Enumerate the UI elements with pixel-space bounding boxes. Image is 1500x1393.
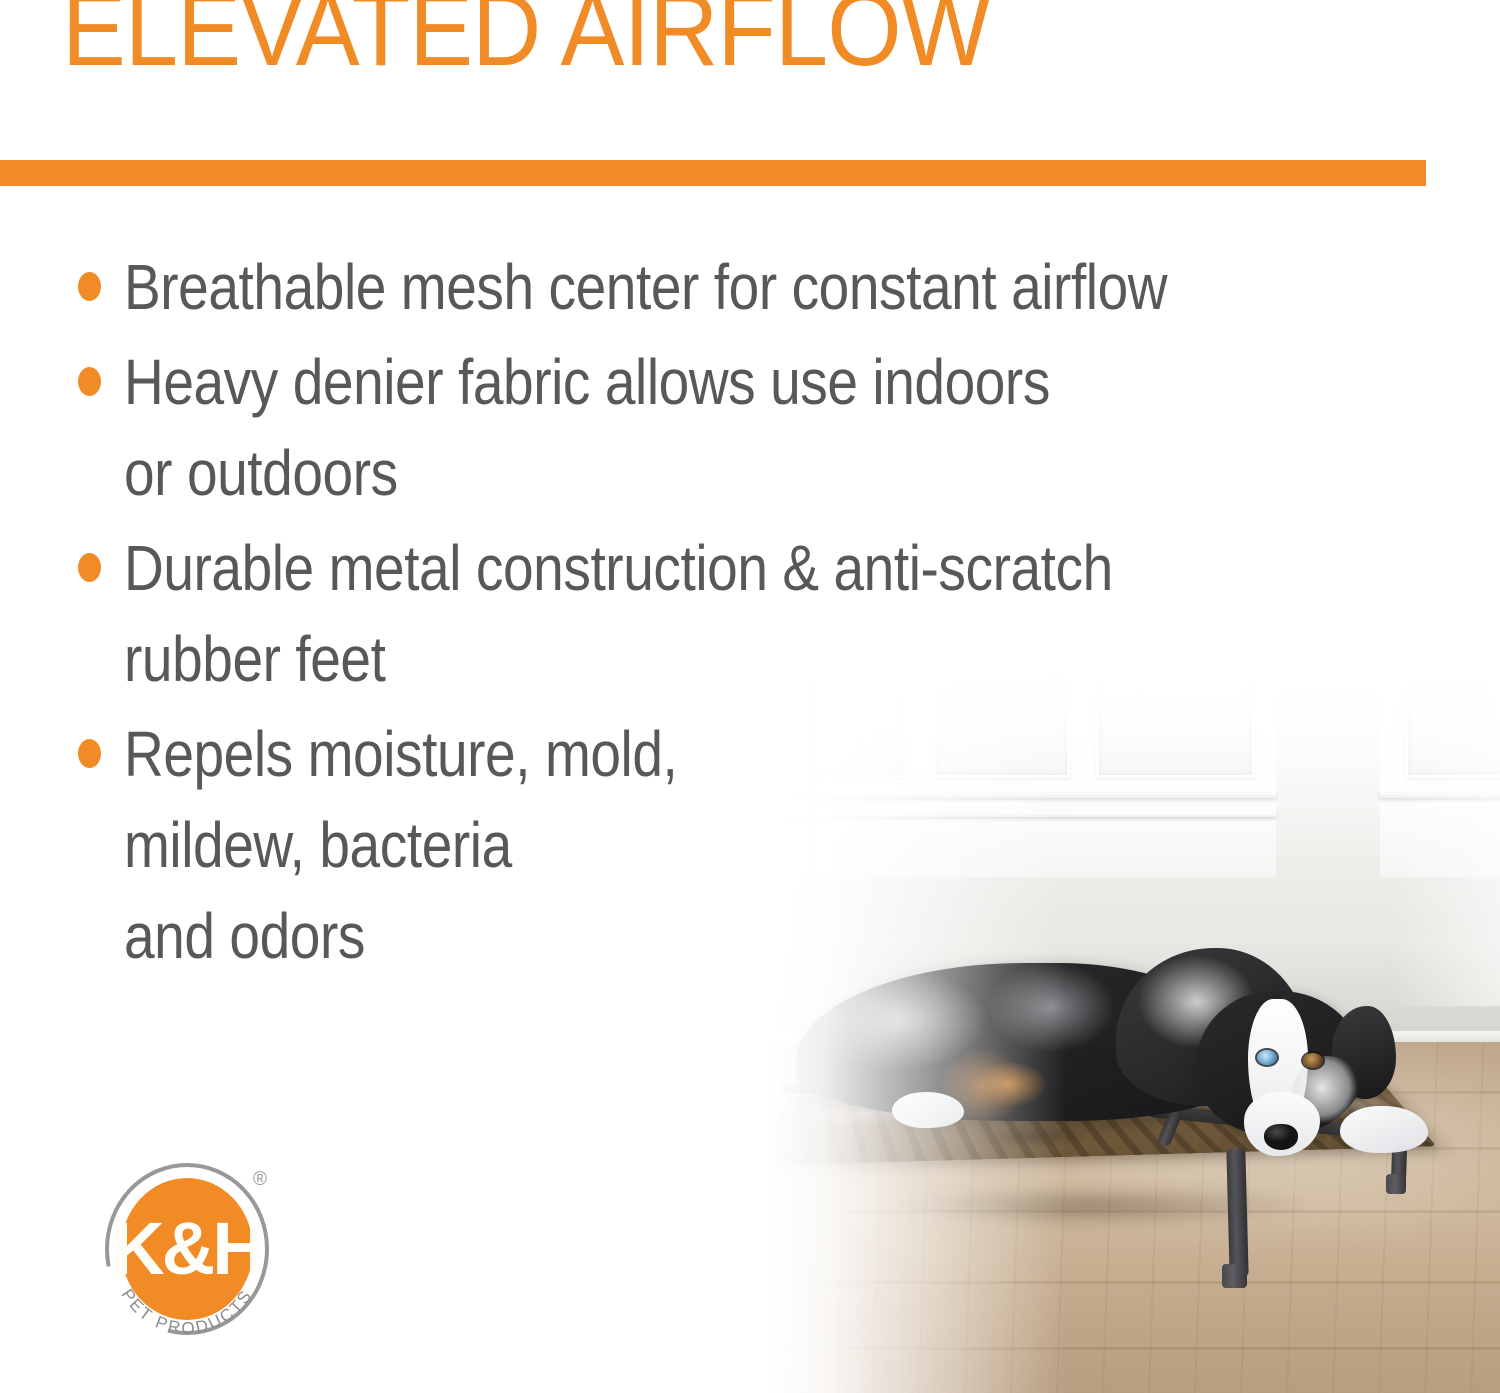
- bed-floor-shadow: [780, 1178, 1404, 1235]
- list-item-label: Repels moisture, mold, mildew, bacteria …: [124, 709, 1275, 982]
- dog-front-paw-left: [892, 1092, 964, 1128]
- list-item: Durable metal construction & anti-scratc…: [62, 523, 1462, 705]
- dog-nose: [1264, 1124, 1298, 1150]
- bullet-dot-icon: [78, 272, 101, 301]
- bullet-dot-icon: [78, 739, 101, 768]
- list-item-label: Durable metal construction & anti-scratc…: [124, 523, 1275, 705]
- logo-wordmark: K&H: [111, 1207, 262, 1290]
- bullet-dot-icon: [78, 553, 101, 582]
- list-item-label: Heavy denier fabric allows use indoors o…: [124, 337, 1275, 519]
- brand-logo: K&H ® PET PRODUCTS: [94, 1148, 290, 1354]
- door-panel-right: [1380, 676, 1500, 877]
- registered-trademark-icon: ®: [253, 1169, 267, 1190]
- brand-logo-svg: K&H ® PET PRODUCTS: [94, 1148, 290, 1354]
- accent-divider: [0, 160, 1426, 186]
- bed-foot-front-right: [1222, 1264, 1247, 1288]
- feature-list: Breathable mesh center for constant airf…: [62, 242, 1462, 986]
- bed-foot-rear-right: [1386, 1174, 1406, 1194]
- list-item: Heavy denier fabric allows use indoors o…: [62, 337, 1462, 519]
- list-item: Repels moisture, mold, mildew, bacteria …: [62, 709, 1462, 982]
- door-panel-pane: [1405, 676, 1500, 778]
- list-item-label: Breathable mesh center for constant airf…: [124, 242, 1275, 333]
- bed-leg-front-right: [1226, 1149, 1248, 1277]
- dog-tan-marking: [972, 1063, 1052, 1113]
- dog-front-paw-right: [1340, 1106, 1428, 1153]
- bullet-dot-icon: [78, 367, 101, 396]
- page-title: ELEVATED AIRFLOW: [62, 0, 990, 82]
- door-rail: [1380, 791, 1500, 798]
- list-item: Breathable mesh center for constant airf…: [62, 242, 1462, 333]
